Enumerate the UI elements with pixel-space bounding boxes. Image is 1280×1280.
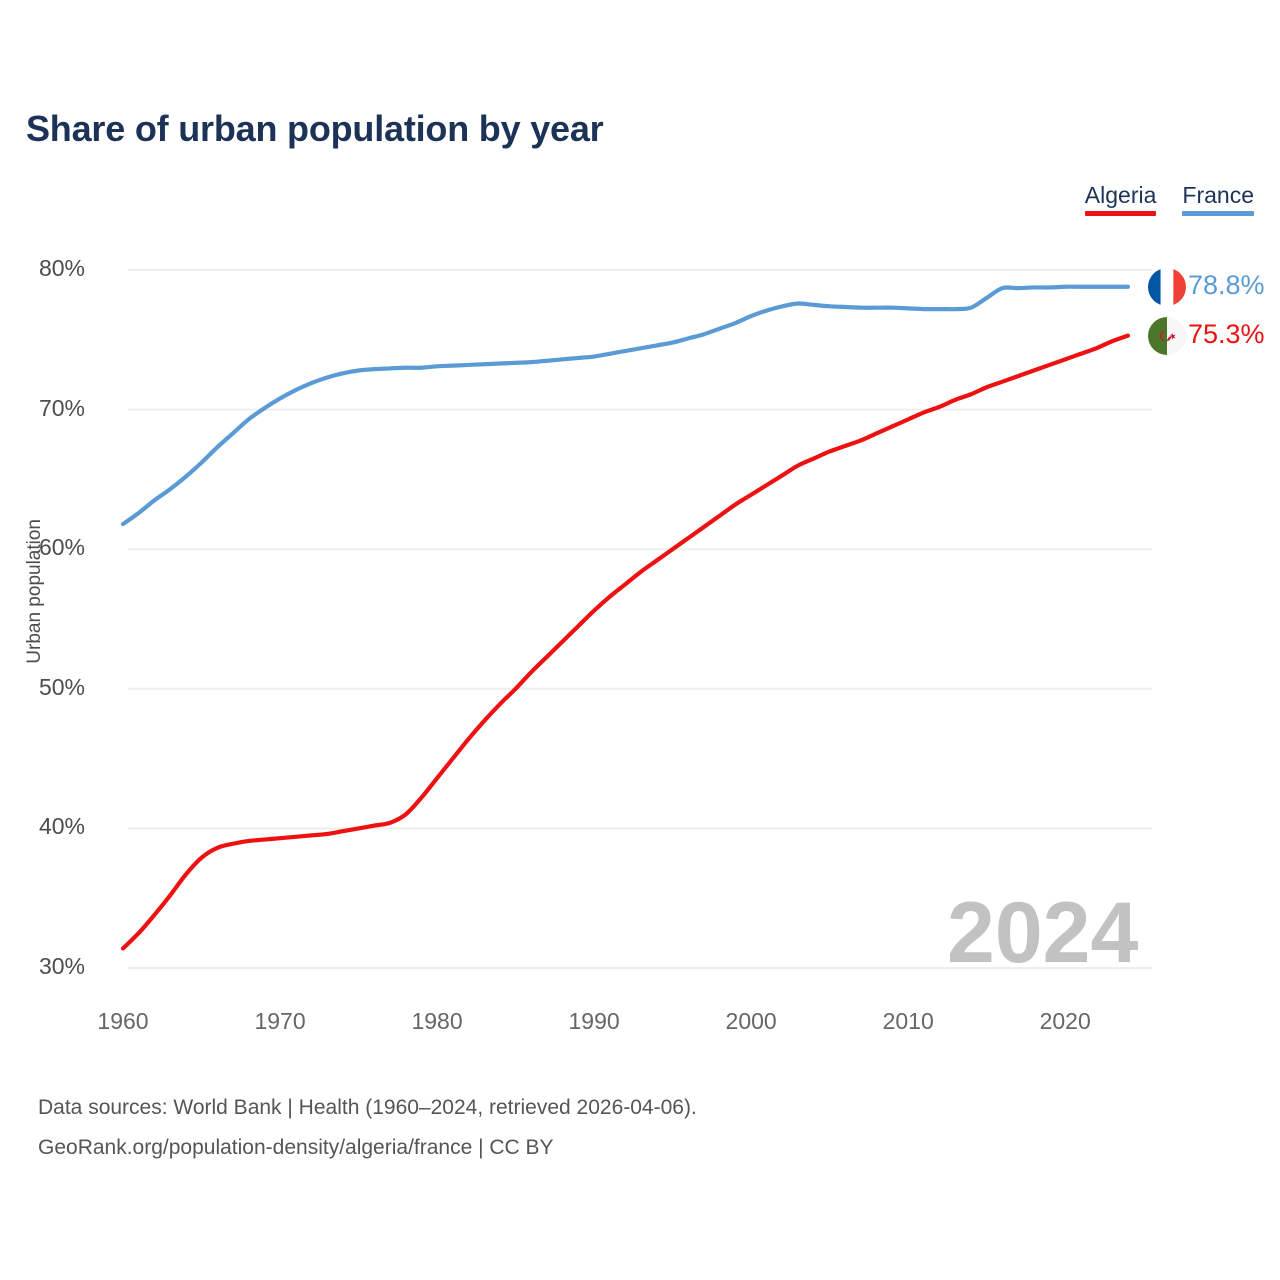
gridlines [128, 270, 1152, 968]
chart-page: Share of urban population by year Algeri… [0, 0, 1280, 1280]
y-tick-label: 30% [39, 953, 85, 980]
x-tick-label: 2020 [1040, 1008, 1091, 1035]
x-tick-label: 1980 [411, 1008, 462, 1035]
y-tick-label: 70% [39, 395, 85, 422]
end-value-france: 78.8% [1188, 270, 1265, 301]
x-tick-label: 2000 [726, 1008, 777, 1035]
series-line-france [123, 287, 1128, 524]
x-tick-label: 2010 [883, 1008, 934, 1035]
y-tick-label: 80% [39, 255, 85, 282]
y-tick-label: 60% [39, 534, 85, 561]
france-flag-icon [1148, 268, 1186, 306]
y-tick-label: 50% [39, 674, 85, 701]
footer: Data sources: World Bank | Health (1960–… [38, 1088, 697, 1168]
x-tick-label: 1970 [254, 1008, 305, 1035]
year-watermark: 2024 [947, 888, 1138, 978]
y-tick-label: 40% [39, 813, 85, 840]
series-line-algeria [123, 336, 1128, 949]
footer-line-attribution[interactable]: GeoRank.org/population-density/algeria/f… [38, 1128, 697, 1168]
y-axis-ticks: 80%70%60%50%40%30% [0, 0, 123, 1020]
end-value-algeria: 75.3% [1188, 319, 1265, 350]
x-tick-label: 1990 [569, 1008, 620, 1035]
algeria-flag-icon [1148, 317, 1186, 355]
x-tick-label: 1960 [97, 1008, 148, 1035]
footer-line-sources: Data sources: World Bank | Health (1960–… [38, 1088, 697, 1128]
